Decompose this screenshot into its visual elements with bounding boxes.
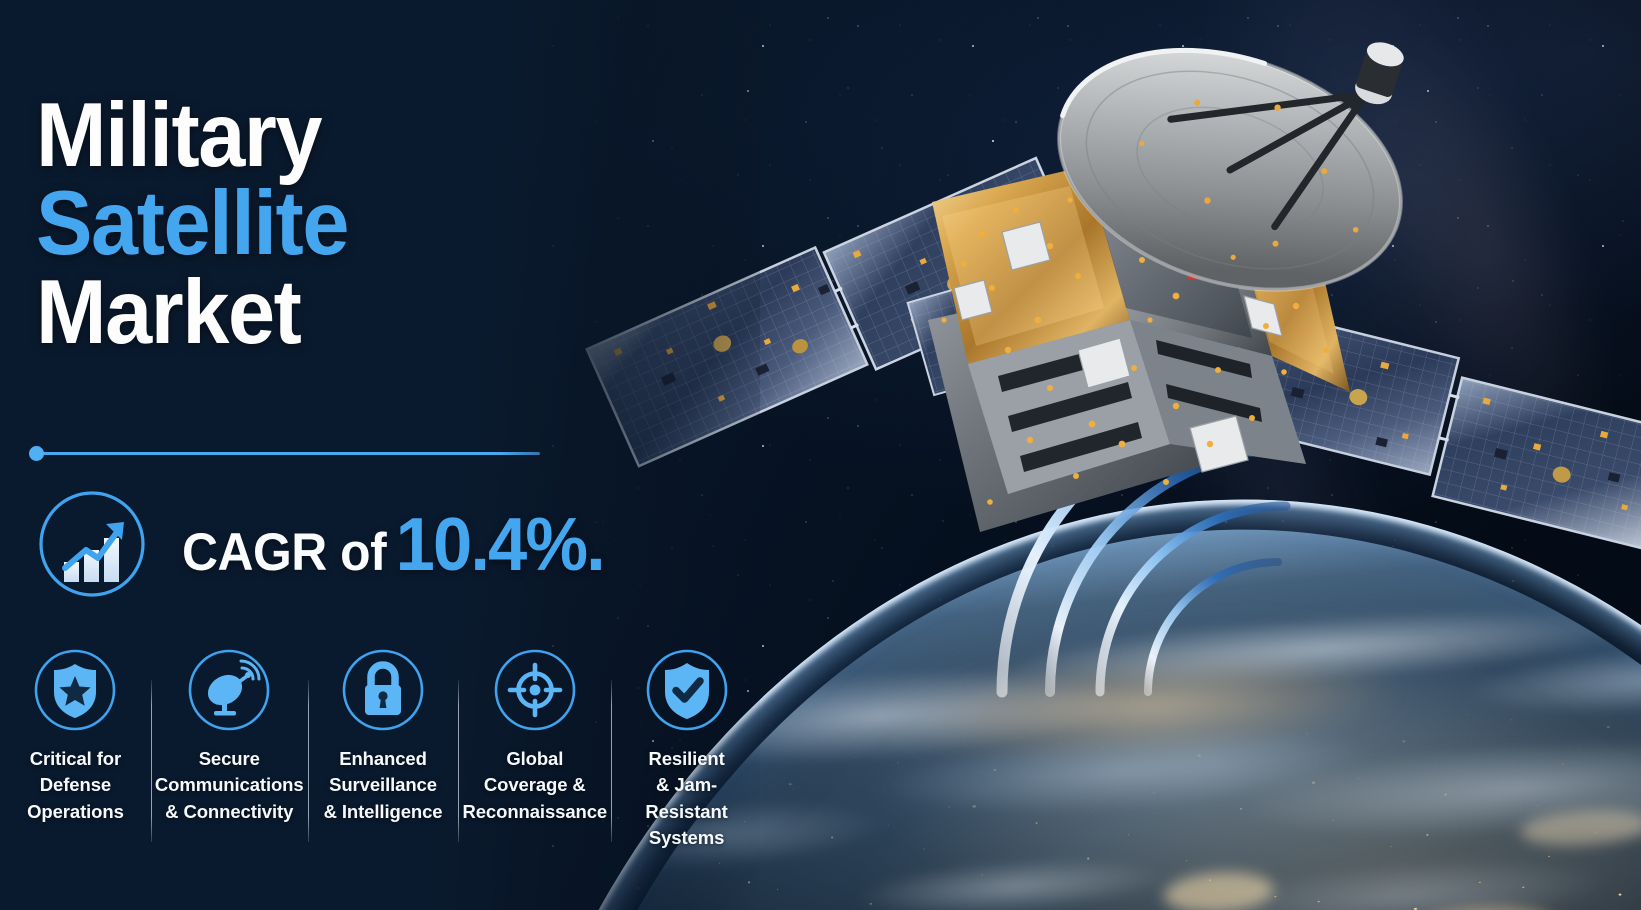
feature-item-enhanced-surveillance[interactable]: Enhanced Surveillance & Intelligence — [308, 648, 459, 825]
cagr-text: CAGR of10.4%. — [182, 501, 604, 587]
accent-divider — [38, 452, 540, 455]
feature-list: Critical for Defense Operations — [0, 648, 762, 868]
feature-item-secure-comms[interactable]: Secure Communications & Connectivity — [151, 648, 308, 825]
feature-label: Critical for Defense Operations — [27, 746, 124, 825]
page-title-line-2: Satellite — [36, 180, 520, 268]
cagr-stat-block: CAGR of10.4%. — [36, 488, 631, 600]
page-title: Military Satellite Market — [36, 92, 520, 357]
satellite-dish-icon — [187, 648, 271, 732]
feature-item-global-coverage[interactable]: Global Coverage & Reconnaissance — [458, 648, 611, 825]
page-title-line-3: Market — [36, 269, 520, 357]
feature-item-resilient-systems[interactable]: Resilient & Jam-Resistant Systems — [611, 648, 762, 851]
lock-icon — [341, 648, 425, 732]
feature-label: Secure Communications & Connectivity — [155, 746, 304, 825]
feature-label: Global Coverage & Reconnaissance — [462, 746, 607, 825]
shield-star-icon — [33, 648, 117, 732]
feature-item-critical-defense[interactable]: Critical for Defense Operations — [0, 648, 151, 825]
shield-check-icon — [645, 648, 729, 732]
cagr-value: 10.4%. — [396, 502, 604, 586]
crosshair-icon — [493, 648, 577, 732]
left-content-panel: Military Satellite Market — [0, 0, 760, 910]
feature-label: Enhanced Surveillance & Intelligence — [324, 746, 443, 825]
feature-label: Resilient & Jam-Resistant Systems — [615, 746, 758, 851]
cagr-label: CAGR of — [182, 523, 386, 582]
infographic-canvas: Military Satellite Market — [0, 0, 1641, 910]
page-title-line-1: Military — [36, 92, 520, 180]
growth-chart-icon — [36, 488, 148, 600]
